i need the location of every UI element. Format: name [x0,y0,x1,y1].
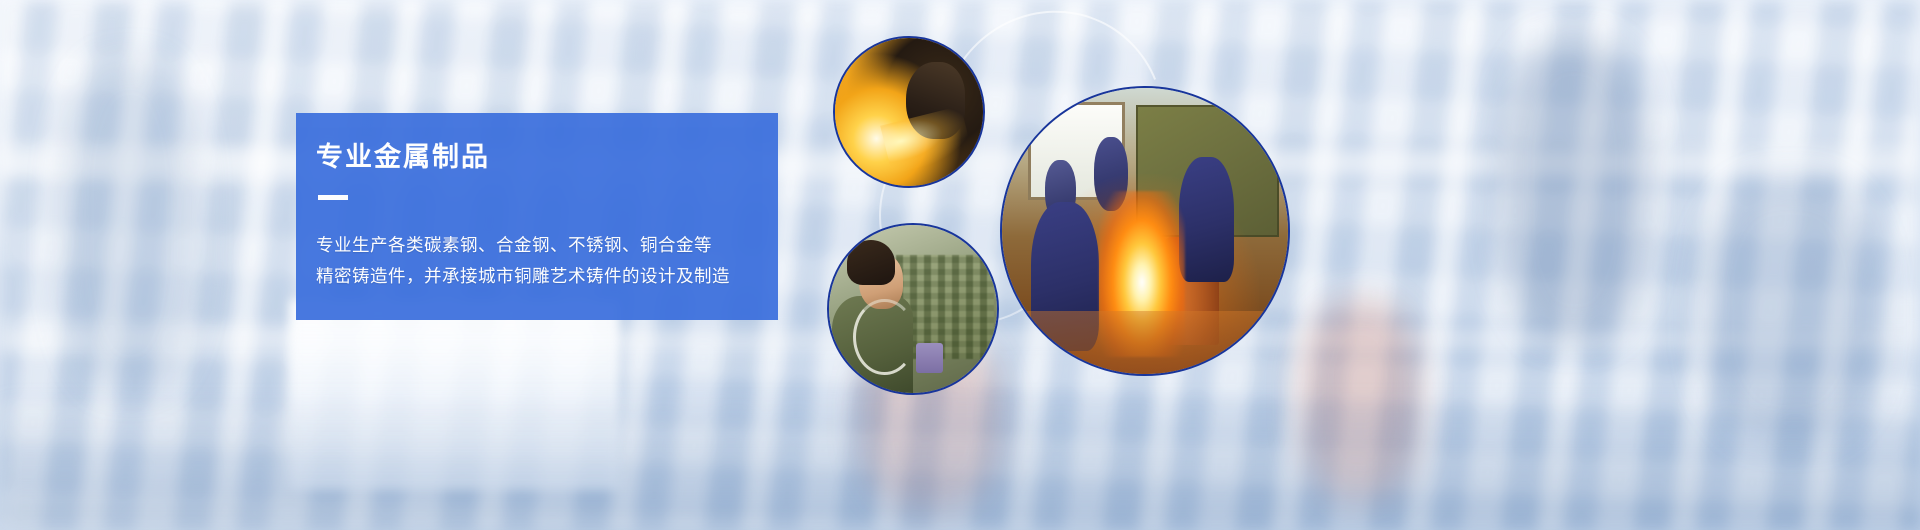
worker-held-part [916,343,943,373]
worker-photo [827,223,999,395]
headline-panel: 专业金属制品 专业生产各类碳素钢、合金钢、不锈钢、铜合金等 精密铸造件，并承接城… [296,113,778,320]
foundry-photo-image [1002,88,1288,374]
worker-figure-hair [847,240,894,285]
worker-photo-image [829,225,997,393]
welder-figure [906,62,965,139]
welder-photo-image [835,38,983,186]
panel-description: 专业生产各类碳素钢、合金钢、不锈钢、铜合金等 精密铸造件，并承接城市铜雕艺术铸件… [316,230,778,291]
background-shadow [1500,40,1650,340]
hero-banner: 专业金属制品 专业生产各类碳素钢、合金钢、不锈钢、铜合金等 精密铸造件，并承接城… [0,0,1920,530]
foundry-figure [1179,157,1233,283]
foundry-floor [1002,311,1288,374]
page-title: 专业金属制品 [316,141,778,173]
foundry-photo [1000,86,1290,376]
welder-photo [833,36,985,188]
title-divider [318,195,348,200]
background-floor [0,400,1920,530]
background-shadow [60,60,200,390]
worker-air-hose [853,299,916,376]
